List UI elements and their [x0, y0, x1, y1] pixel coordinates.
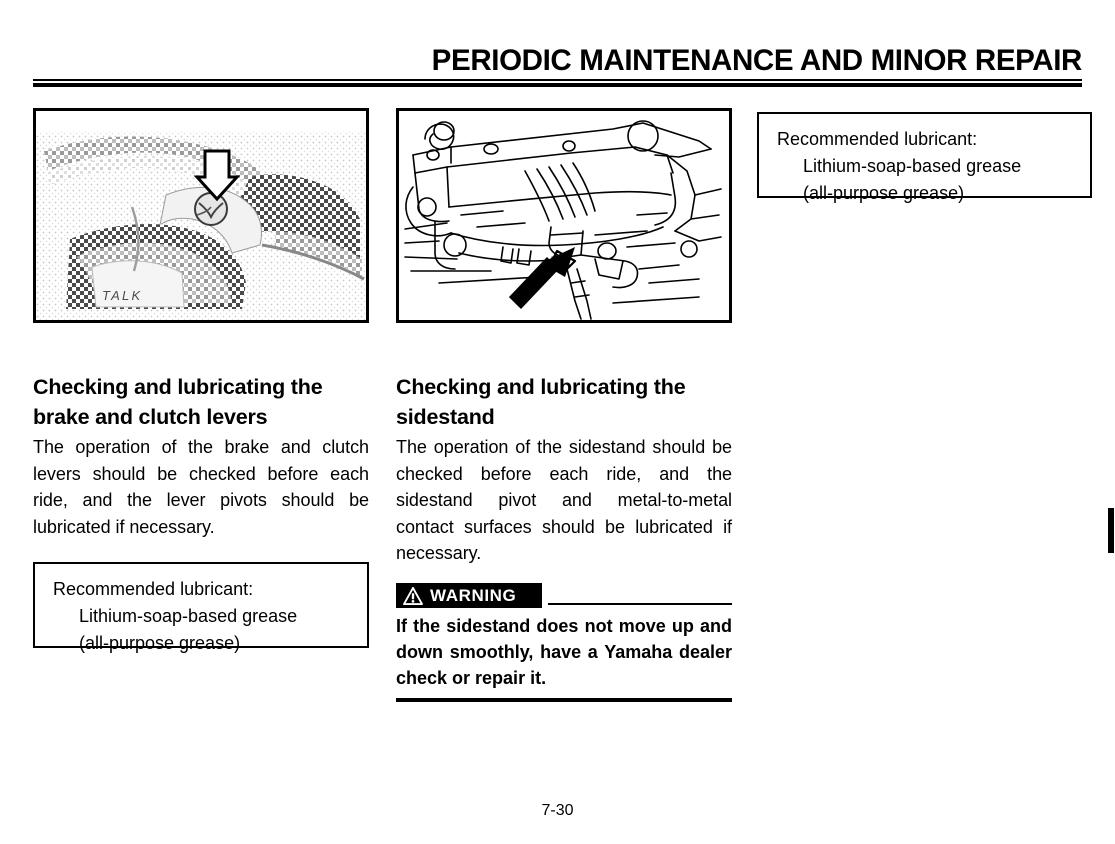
warning-header-row: WARNING — [396, 583, 732, 609]
lubricant-title: Recommended lubricant: — [53, 576, 353, 603]
page-header: PERIODIC MAINTENANCE AND MINOR REPAIR — [33, 44, 1082, 82]
recommended-lubricant-box-levers: Recommended lubricant: Lithium-soap-base… — [33, 562, 369, 648]
warning-label: WARNING — [430, 587, 516, 604]
photo-text-talk: TALK — [102, 288, 142, 303]
section-body-levers: The operation of the brake and clutch le… — [33, 434, 369, 540]
brake-lever-photo-illustration: TALK — [36, 111, 366, 320]
lubricant-note: (all-purpose grease) — [777, 180, 1076, 207]
manual-page: PERIODIC MAINTENANCE AND MINOR REPAIR — [0, 0, 1115, 844]
page-number: 7-30 — [0, 802, 1115, 820]
section-heading-sidestand: Checking and lubricating the sidestand — [396, 372, 732, 432]
lubricant-title: Recommended lubricant: — [777, 126, 1076, 153]
header-rule-thick — [33, 83, 1082, 87]
warning-text: If the sidestand does not move up and do… — [396, 613, 732, 691]
section-body-sidestand: The operation of the sidestand should be… — [396, 434, 732, 567]
recommended-lubricant-box-sidestand: Recommended lubricant: Lithium-soap-base… — [757, 112, 1092, 198]
section-brake-and-clutch-levers: Checking and lubricating the brake and c… — [33, 372, 369, 540]
warning-header-rule — [548, 603, 732, 605]
edge-thumb-index-tab — [1108, 508, 1114, 553]
warning-block: WARNING If the sidestand does not move u… — [396, 583, 732, 702]
figure-brake-and-clutch-lever: TALK — [33, 108, 369, 323]
sidestand-line-illustration — [399, 111, 729, 320]
page-title: PERIODIC MAINTENANCE AND MINOR REPAIR — [49, 44, 1082, 78]
lubricant-note: (all-purpose grease) — [53, 630, 353, 657]
lubricant-type: Lithium-soap-based grease — [777, 153, 1076, 180]
header-rule-thin — [33, 79, 1082, 81]
section-sidestand: Checking and lubricating the sidestand T… — [396, 372, 732, 567]
warning-triangle-exclamation-icon — [403, 587, 423, 605]
figure-sidestand — [396, 108, 732, 323]
warning-badge: WARNING — [396, 583, 542, 608]
lubricant-type: Lithium-soap-based grease — [53, 603, 353, 630]
warning-bottom-rule — [396, 698, 732, 702]
section-heading-levers: Checking and lubricating the brake and c… — [33, 372, 369, 432]
